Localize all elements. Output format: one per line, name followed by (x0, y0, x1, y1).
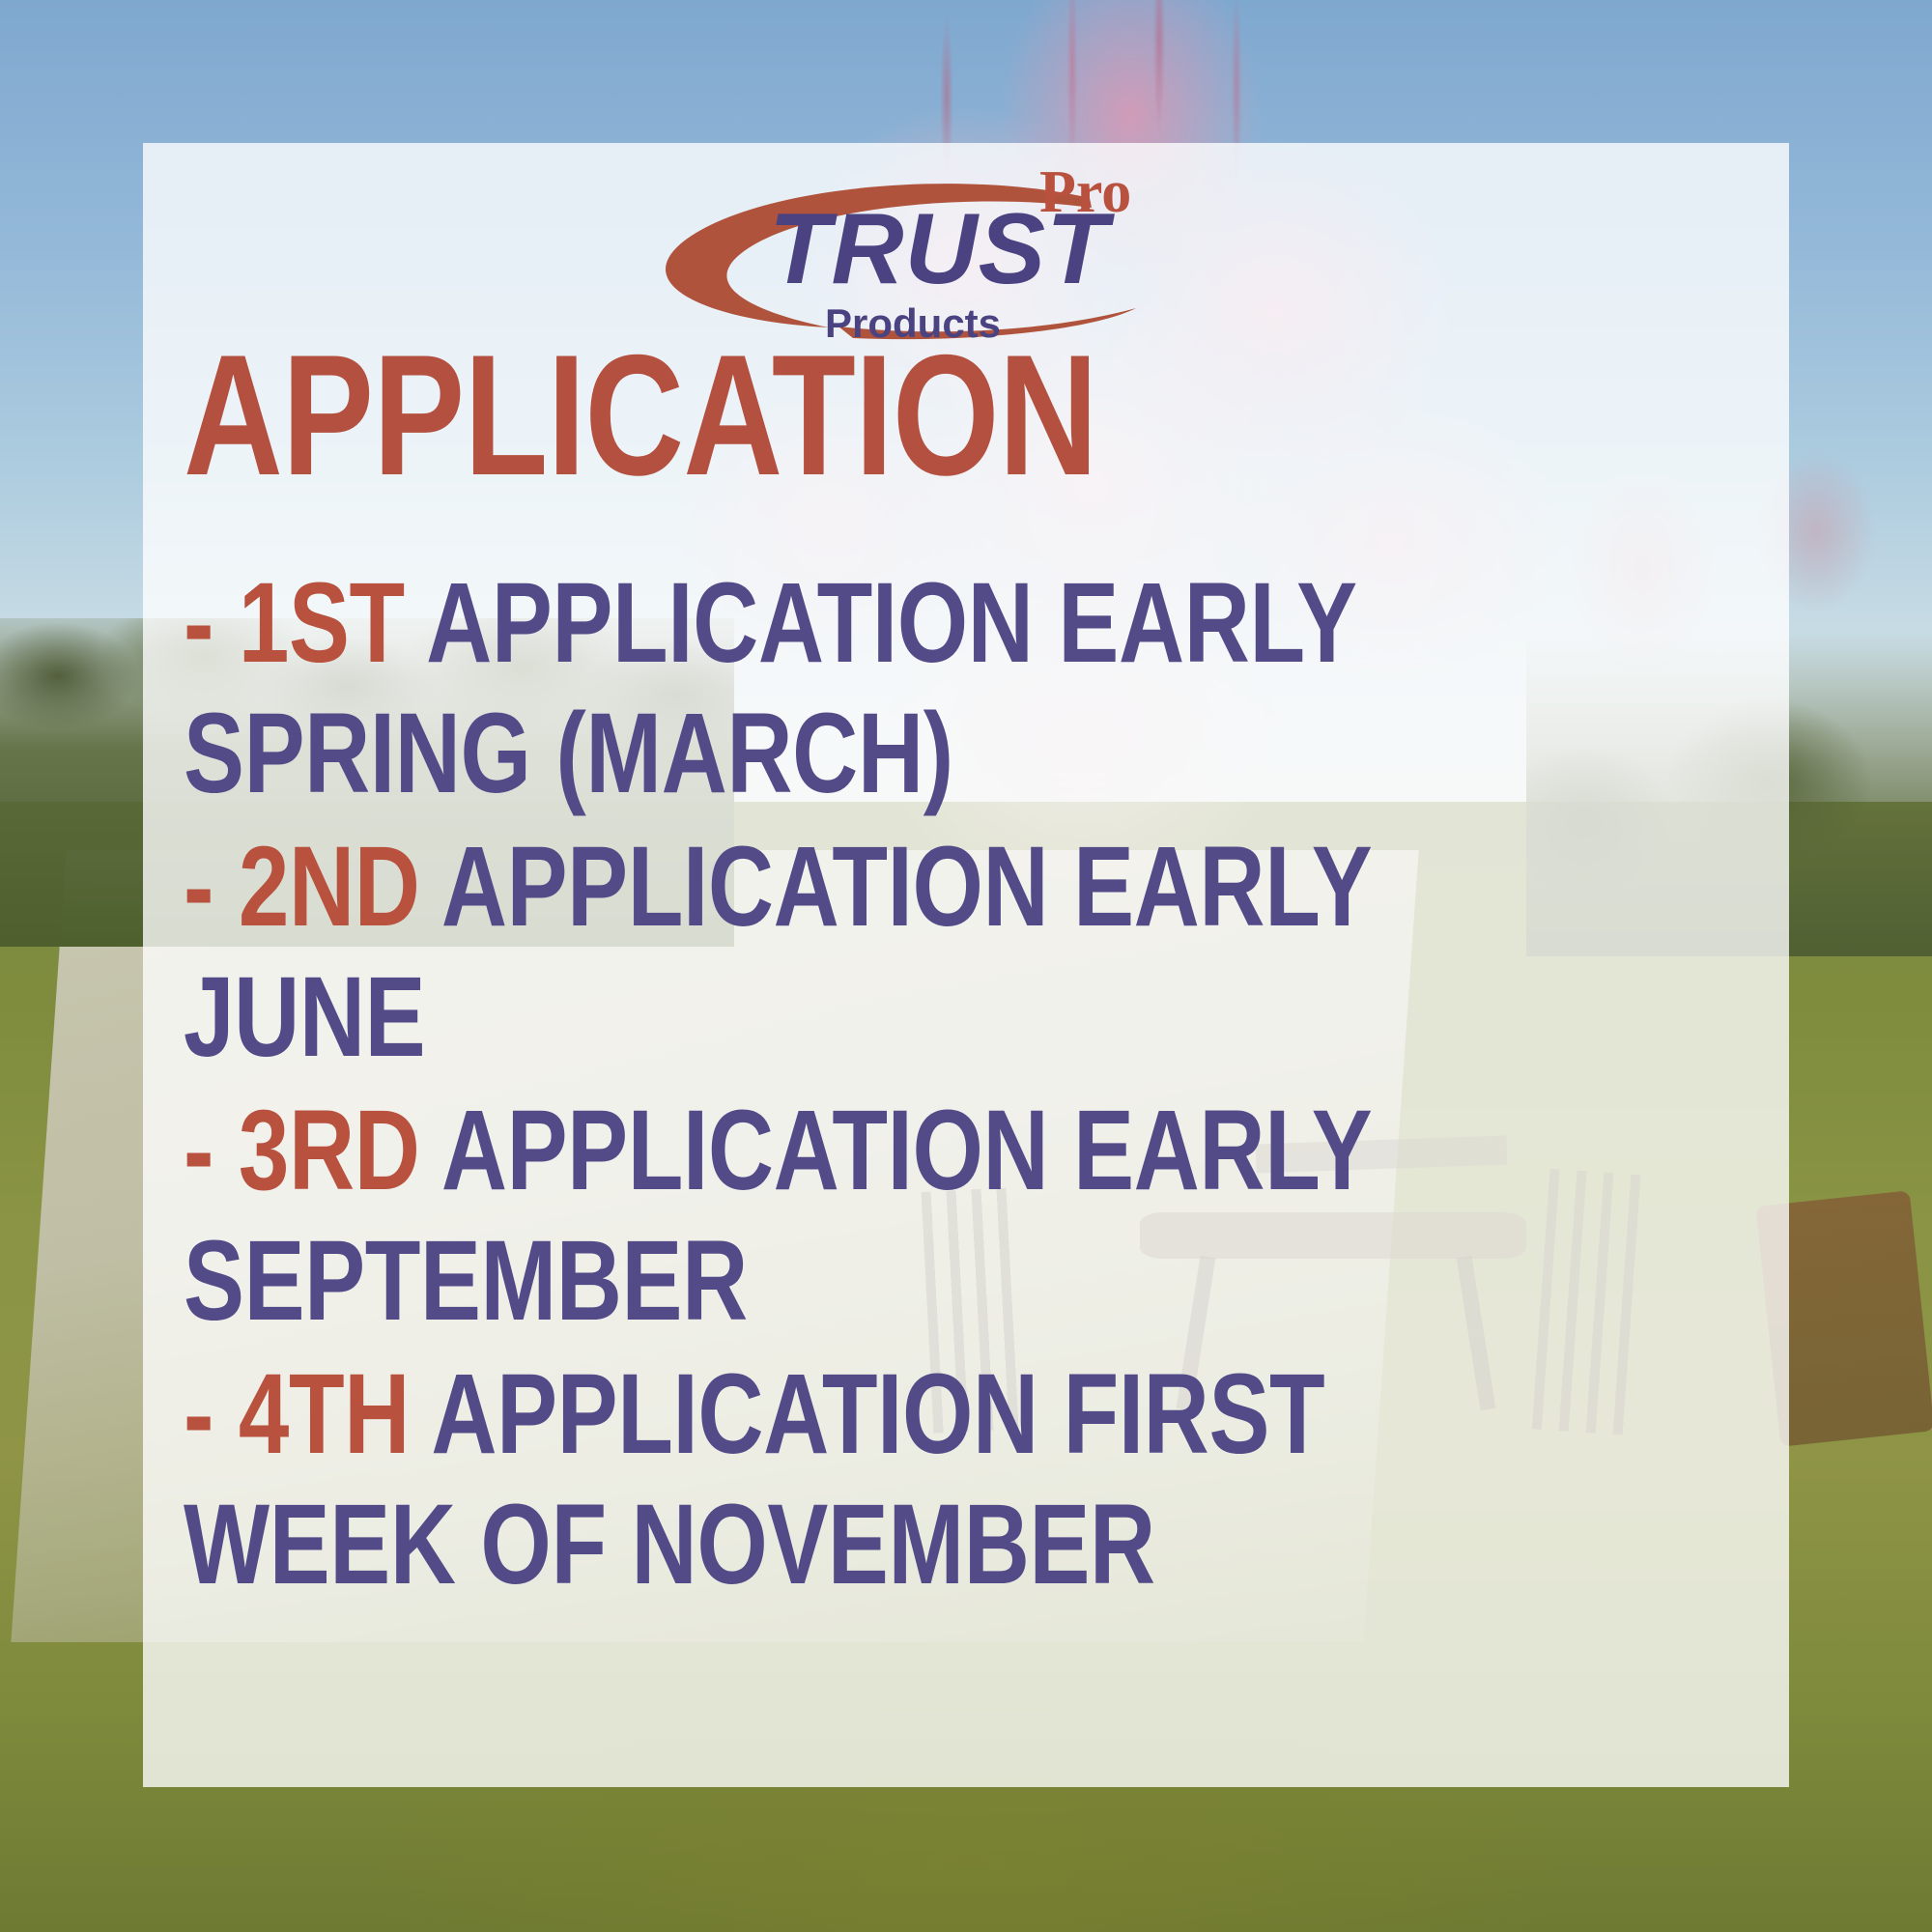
logo-word-pro: Pro (1039, 159, 1131, 225)
page-title: APPLICATION (184, 341, 1461, 489)
poster-canvas: TRUST Pro Products APPLICATION - 1ST APP… (0, 0, 1932, 1932)
protrust-products-logo: TRUST Pro Products (645, 148, 1273, 346)
list-item: - 2ND APPLICATION EARLY JUNE (184, 822, 1461, 1082)
bullet-and-ordinal-3: - 3RD (184, 1087, 420, 1214)
bullet-and-ordinal-2: - 2ND (184, 823, 420, 951)
list-item: - 4TH APPLICATION FIRST WEEK OF NOVEMBER (184, 1350, 1461, 1609)
bullet-and-ordinal-1: - 1ST (184, 559, 405, 687)
bullet-and-ordinal-4: - 4TH (184, 1350, 410, 1478)
poster-text-block: APPLICATION - 1ST APPLICATION EARLY SPRI… (184, 341, 1779, 1613)
list-item: - 1ST APPLICATION EARLY SPRING (MARCH) (184, 558, 1461, 818)
white-overlay-panel: TRUST Pro Products APPLICATION - 1ST APP… (143, 143, 1789, 1787)
application-schedule-list: - 1ST APPLICATION EARLY SPRING (MARCH) -… (184, 558, 1779, 1609)
list-item: - 3RD APPLICATION EARLY SEPTEMBER (184, 1086, 1461, 1346)
